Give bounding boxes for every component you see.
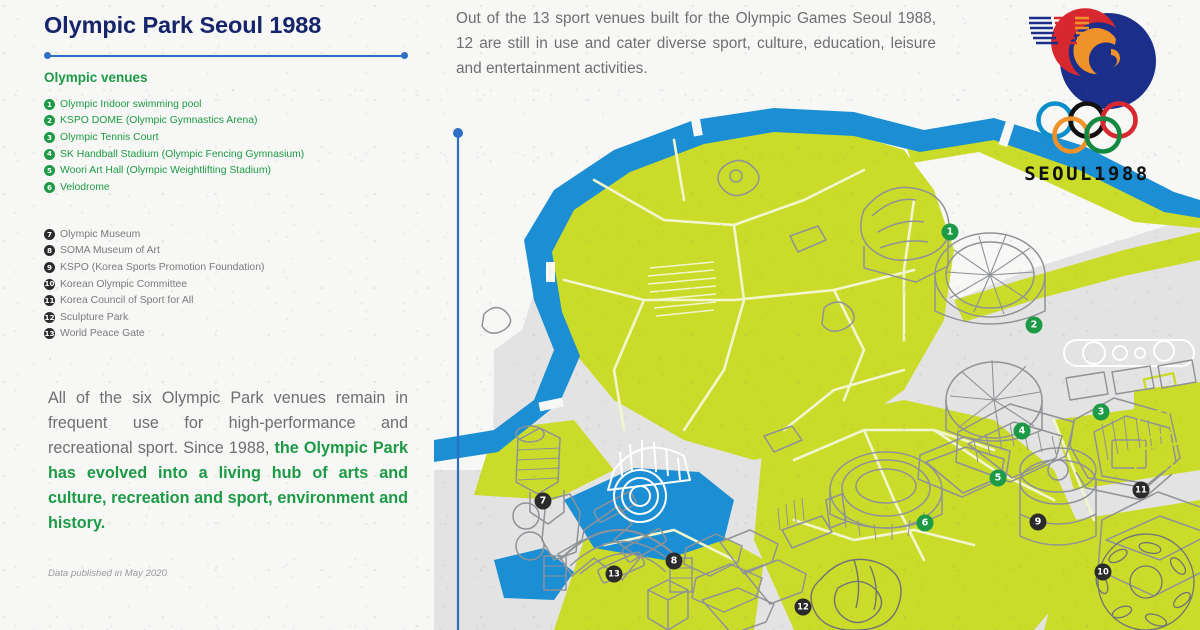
map-marker-5[interactable]: 5 <box>990 470 1007 487</box>
legend-badge-6: 6 <box>44 182 55 193</box>
seoul-1988-logo: SEOUL1988 <box>1011 4 1186 199</box>
map-marker-8[interactable]: 8 <box>666 553 683 570</box>
legend-label-10: Korean Olympic Committee <box>60 279 187 290</box>
page-title: Olympic Park Seoul 1988 <box>44 12 424 39</box>
legend-section-title: Olympic venues <box>44 70 148 85</box>
olympic-venues-list: 1Olympic Indoor swimming pool2KSPO DOME … <box>44 96 434 196</box>
legend-badge-3: 3 <box>44 132 55 143</box>
legend-venue-4[interactable]: 4SK Handball Stadium (Olympic Fencing Gy… <box>44 146 434 163</box>
title-divider <box>44 52 408 60</box>
legend-badge-2: 2 <box>44 115 55 126</box>
legend-facility-9[interactable]: 9KSPO (Korea Sports Promotion Foundation… <box>44 259 434 276</box>
legend-badge-1: 1 <box>44 99 55 110</box>
legend-facility-13[interactable]: 13World Peace Gate <box>44 326 434 343</box>
legend-label-8: SOMA Museum of Art <box>60 245 160 256</box>
map-marker-9[interactable]: 9 <box>1030 514 1047 531</box>
legend-label-2: KSPO DOME (Olympic Gymnastics Arena) <box>60 115 257 126</box>
map-marker-1[interactable]: 1 <box>942 224 959 241</box>
legend-label-6: Velodrome <box>60 182 110 193</box>
legend-label-5: Woori Art Hall (Olympic Weightlifting St… <box>60 165 271 176</box>
body-paragraph: All of the six Olympic Park venues remai… <box>48 386 408 536</box>
legend-label-7: Olympic Museum <box>60 229 140 240</box>
map-marker-10[interactable]: 10 <box>1095 564 1112 581</box>
bridge-4 <box>546 262 555 282</box>
legend-badge-7: 7 <box>44 229 55 240</box>
legend-facility-10[interactable]: 10Korean Olympic Committee <box>44 276 434 293</box>
samtaeguk-spiral-icon <box>1029 8 1156 109</box>
legend-badge-11: 11 <box>44 295 55 306</box>
legend-facility-7[interactable]: 7Olympic Museum <box>44 226 434 243</box>
map-marker-2[interactable]: 2 <box>1026 317 1043 334</box>
legend-facility-12[interactable]: 12Sculpture Park <box>44 309 434 326</box>
divider-line <box>48 55 404 57</box>
legend-badge-10: 10 <box>44 279 55 290</box>
map-marker-3[interactable]: 3 <box>1093 404 1110 421</box>
sidebar-panel: Olympic Park Seoul 1988 Olympic venues 1… <box>0 0 434 630</box>
legend-label-11: Korea Council of Sport for All <box>60 295 193 306</box>
legend-label-1: Olympic Indoor swimming pool <box>60 99 201 110</box>
divider-dot-right <box>401 52 408 59</box>
legend-badge-8: 8 <box>44 245 55 256</box>
legend-venue-2[interactable]: 2KSPO DOME (Olympic Gymnastics Arena) <box>44 113 434 130</box>
legend-badge-12: 12 <box>44 312 55 323</box>
map-marker-7[interactable]: 7 <box>535 493 552 510</box>
legend-label-12: Sculpture Park <box>60 312 128 323</box>
legend-label-4: SK Handball Stadium (Olympic Fencing Gym… <box>60 149 304 160</box>
map-marker-6[interactable]: 6 <box>917 515 934 532</box>
legend-facility-8[interactable]: 8SOMA Museum of Art <box>44 243 434 260</box>
other-facilities-list: 7Olympic Museum8SOMA Museum of Art9KSPO … <box>44 226 434 342</box>
legend-label-9: KSPO (Korea Sports Promotion Foundation) <box>60 262 264 273</box>
legend-badge-9: 9 <box>44 262 55 273</box>
legend-badge-5: 5 <box>44 165 55 176</box>
map-left-accent-line <box>450 126 466 630</box>
map-marker-11[interactable]: 11 <box>1133 482 1150 499</box>
legend-venue-3[interactable]: 3Olympic Tennis Court <box>44 129 434 146</box>
legend-venue-5[interactable]: 5Woori Art Hall (Olympic Weightlifting S… <box>44 162 434 179</box>
map-marker-4[interactable]: 4 <box>1014 423 1031 440</box>
legend-label-3: Olympic Tennis Court <box>60 132 159 143</box>
legend-venue-1[interactable]: 1Olympic Indoor swimming pool <box>44 96 434 113</box>
legend-label-13: World Peace Gate <box>60 328 145 339</box>
footnote: Data published in May 2020 <box>48 568 167 579</box>
map-marker-12[interactable]: 12 <box>795 599 812 616</box>
legend-badge-4: 4 <box>44 149 55 160</box>
legend-badge-13: 13 <box>44 328 55 339</box>
logo-wordmark: SEOUL1988 <box>1024 163 1149 185</box>
olympic-rings-icon <box>1039 104 1136 152</box>
intro-paragraph: Out of the 13 sport venues built for the… <box>456 6 936 81</box>
map-marker-13[interactable]: 13 <box>606 566 623 583</box>
legend-venue-6[interactable]: 6Velodrome <box>44 179 434 196</box>
legend-facility-11[interactable]: 11Korea Council of Sport for All <box>44 292 434 309</box>
